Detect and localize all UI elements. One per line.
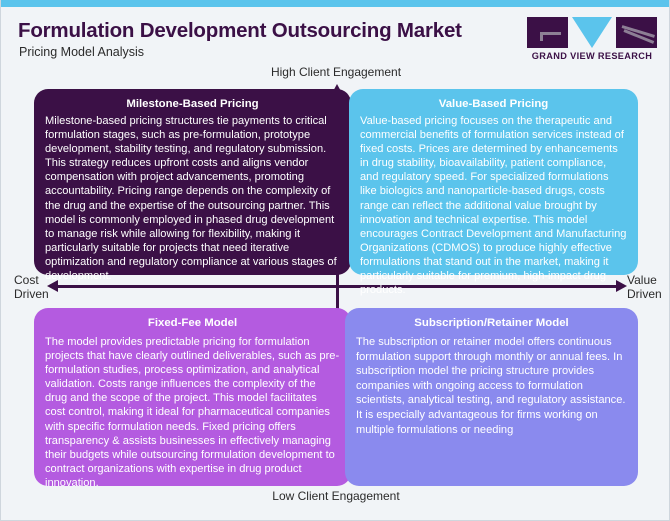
quadrant-value-based-pricing: Value-Based Pricing Value-based pricing … — [349, 89, 638, 275]
axis-label-cost-driven-line1: Cost — [14, 273, 49, 287]
axis-label-value-driven-line2: Driven — [627, 287, 662, 301]
quadrant-body: The subscription or retainer model offer… — [356, 335, 627, 437]
quadrant-body: The model provides predictable pricing f… — [45, 335, 340, 490]
axis-label-low-client-engagement: Low Client Engagement — [1, 489, 670, 503]
page-subtitle: Pricing Model Analysis — [19, 45, 144, 59]
logo-g-stem — [540, 32, 543, 41]
axis-label-value-driven: Value Driven — [627, 273, 662, 301]
quadrant-title: Milestone-Based Pricing — [45, 97, 340, 111]
axis-label-cost-driven: Cost Driven — [14, 273, 49, 301]
logo-wordmark: GRAND VIEW RESEARCH — [525, 51, 659, 61]
quadrant-body: Milestone-based pricing structures tie p… — [45, 114, 340, 283]
page-title: Formulation Development Outsourcing Mark… — [18, 19, 462, 43]
axis-label-cost-driven-line2: Driven — [14, 287, 49, 301]
header: Formulation Development Outsourcing Mark… — [1, 7, 670, 62]
quadrant-body: Value-based pricing focuses on the thera… — [360, 114, 627, 297]
quadrant-fixed-fee-model: Fixed-Fee Model The model provides predi… — [34, 308, 351, 486]
top-accent-bar — [1, 0, 670, 7]
grand-view-research-logo: GRAND VIEW RESEARCH — [525, 17, 659, 65]
axis-label-high-client-engagement: High Client Engagement — [1, 65, 670, 79]
logo-g-bar — [540, 32, 561, 35]
quadrant-title: Value-Based Pricing — [360, 97, 627, 111]
logo-marks — [525, 17, 659, 48]
quadrant-title: Subscription/Retainer Model — [356, 316, 627, 330]
quadrant-milestone-based-pricing: Milestone-Based Pricing Milestone-based … — [34, 89, 351, 275]
quadrant-subscription-retainer-model: Subscription/Retainer Model The subscrip… — [345, 308, 638, 486]
infographic-card: Formulation Development Outsourcing Mark… — [0, 0, 670, 521]
logo-letter-g-icon — [527, 17, 568, 48]
logo-letter-r-icon — [616, 17, 657, 48]
logo-letter-v-icon — [572, 17, 612, 48]
quadrant-title: Fixed-Fee Model — [45, 316, 340, 330]
axis-label-value-driven-line1: Value — [627, 273, 662, 287]
